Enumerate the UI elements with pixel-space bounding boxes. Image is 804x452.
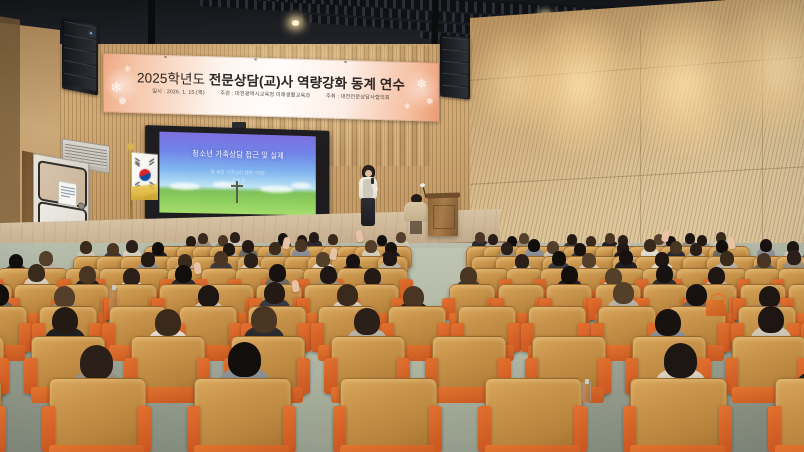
podium <box>428 196 458 236</box>
attendee <box>708 267 725 285</box>
banner-grommet <box>254 58 257 61</box>
attendee-head <box>685 233 695 244</box>
attendee <box>582 253 596 268</box>
seat-cushion <box>775 445 804 452</box>
handbag <box>706 300 726 316</box>
attendee-head <box>346 254 360 269</box>
seat-side-panel <box>0 406 6 452</box>
attendee-head <box>655 309 681 336</box>
seat-back <box>630 378 727 452</box>
attendee-head <box>328 234 338 245</box>
attendee-head <box>586 236 596 247</box>
attendee <box>251 306 277 333</box>
attendee-head <box>686 284 707 306</box>
attendee <box>28 264 45 282</box>
attendee <box>54 286 75 308</box>
attendee-head <box>515 254 529 269</box>
attendee <box>656 265 673 283</box>
seat-cushion <box>485 445 580 452</box>
attendee-head <box>28 264 45 282</box>
attendee <box>685 233 695 244</box>
attendee-head <box>656 265 673 283</box>
water-bottle <box>582 382 591 403</box>
seat[interactable] <box>630 378 725 452</box>
banner-grommet <box>164 55 167 58</box>
attendee-head <box>80 345 113 380</box>
attendee <box>354 308 380 335</box>
attendee <box>690 243 702 256</box>
attendee-head <box>54 286 75 308</box>
taeguk-symbol <box>139 169 151 181</box>
attendee-head <box>107 243 119 256</box>
attendee <box>198 285 219 307</box>
seat-back <box>194 378 291 452</box>
attendee-head <box>561 266 578 284</box>
attendee <box>79 266 96 284</box>
attendee <box>228 342 261 377</box>
attendee <box>475 232 485 243</box>
attendee <box>269 264 286 282</box>
flag-finial <box>127 143 134 150</box>
attendee-head <box>403 286 424 308</box>
attendee <box>501 242 513 255</box>
attendee <box>528 239 540 252</box>
attendee <box>655 309 681 336</box>
attendee <box>613 282 634 304</box>
attendee-head <box>264 282 285 304</box>
attendee <box>561 266 578 284</box>
attendee <box>552 251 566 266</box>
attendee <box>403 286 424 308</box>
seat-cushion <box>49 445 144 452</box>
attendee <box>107 243 119 256</box>
attendee-head <box>720 251 734 266</box>
attendee-head <box>760 239 772 252</box>
attendee <box>269 242 281 255</box>
door-notice-sign <box>58 180 77 206</box>
auditorium-screenshot: ❄ ❄ ❅ ❄ ❅ ❄ 2025학년도 전문상담(교)사 역량강화 동계 연수 … <box>0 0 804 452</box>
attendee <box>346 254 360 269</box>
banner-subtitle-host: 주관 : 대전광역시교육청 미래생활교육과 <box>220 91 310 100</box>
attendee-head <box>141 252 155 267</box>
attendee-head <box>759 286 780 308</box>
attendee-head <box>644 239 656 252</box>
attendee-head <box>251 306 277 333</box>
attendee-head <box>708 267 725 285</box>
attendee <box>328 234 338 245</box>
seat[interactable] <box>194 378 289 452</box>
attendee-head <box>619 250 633 265</box>
attendee-head <box>501 242 513 255</box>
attendee <box>686 284 707 306</box>
seat-cushion <box>194 445 289 452</box>
attendee <box>244 253 258 268</box>
attendee-head <box>242 240 254 253</box>
slide-title: 청소년 가족상담 접근 및 실제 <box>159 148 315 162</box>
seat-back <box>340 378 437 452</box>
attendee-head <box>228 342 261 377</box>
attendee-head <box>787 250 801 265</box>
line-array-speaker-right <box>440 34 470 99</box>
attendee-head <box>613 282 634 304</box>
attendee <box>644 239 656 252</box>
attendee-head <box>9 254 23 269</box>
attendee-head <box>52 307 78 334</box>
event-banner: ❄ ❄ ❅ ❄ ❅ ❄ 2025학년도 전문상담(교)사 역량강화 동계 연수 … <box>103 53 439 121</box>
attendee-head <box>488 234 498 245</box>
assistant-bowing <box>404 194 428 234</box>
attendee-head <box>316 252 330 267</box>
projection-screen: 청소년 가족상담 접근 및 실제 열 세움 가족심리 센터 "더함" 정 미 정 <box>145 125 329 223</box>
attendee <box>155 309 181 336</box>
cloud-icon <box>260 185 293 193</box>
attendee-head <box>198 233 208 244</box>
seat[interactable] <box>775 378 804 452</box>
attendee <box>515 254 529 269</box>
microphone-icon <box>371 178 374 184</box>
attendee <box>383 251 397 266</box>
seat-back <box>49 378 146 452</box>
seat[interactable] <box>340 378 435 452</box>
door-handle[interactable] <box>78 202 85 210</box>
spotlight-icon <box>290 10 301 23</box>
attendee <box>365 240 377 253</box>
attendee <box>316 252 330 267</box>
attendee-head <box>126 240 138 253</box>
attendee <box>605 233 615 244</box>
attendee <box>175 265 192 283</box>
attendee-head <box>690 243 702 256</box>
attendee-head <box>582 253 596 268</box>
attendee-head <box>670 241 682 254</box>
seat[interactable] <box>49 378 144 452</box>
attendee <box>759 286 780 308</box>
seat-cushion <box>340 445 435 452</box>
attendee-head <box>365 240 377 253</box>
attendee <box>460 267 477 285</box>
snowflake-icon: ❅ <box>118 97 127 108</box>
attendee <box>126 240 138 253</box>
attendee-head <box>214 251 228 266</box>
attendee-head <box>269 264 286 282</box>
attendee <box>0 284 9 306</box>
banner-title-year: 2025학년도 <box>137 70 205 87</box>
attendee <box>141 252 155 267</box>
attendee <box>295 239 307 252</box>
attendee <box>787 250 801 265</box>
attendee-head <box>757 253 771 268</box>
attendee-head <box>244 253 258 268</box>
attendee-head <box>605 233 615 244</box>
attendee <box>80 241 92 254</box>
attendee-head <box>309 232 319 243</box>
attendee-head <box>337 284 358 306</box>
seat-back <box>485 378 582 452</box>
attendee <box>309 232 319 243</box>
attendee <box>337 284 358 306</box>
attendee-head <box>155 309 181 336</box>
attendee <box>230 232 240 243</box>
attendee-head <box>396 232 406 243</box>
presentation-slide: 청소년 가족상담 접근 및 실제 열 세움 가족심리 센터 "더함" 정 미 정 <box>159 132 315 216</box>
banner-grommet <box>344 60 347 63</box>
attendee <box>488 234 498 245</box>
attendee-head <box>460 267 477 285</box>
attendee-head <box>383 251 397 266</box>
attendee <box>264 282 285 304</box>
attendee <box>664 343 697 378</box>
attendee-head <box>175 265 192 283</box>
attendee-head <box>80 241 92 254</box>
attendee <box>80 345 113 380</box>
attendee <box>760 239 772 252</box>
attendee <box>619 250 633 265</box>
cloud-icon <box>170 182 200 190</box>
attendee <box>396 232 406 243</box>
presenter-speaker <box>357 166 379 226</box>
attendee <box>52 307 78 334</box>
attendee-head <box>354 308 380 335</box>
seat[interactable] <box>485 378 580 452</box>
attendee <box>757 253 771 268</box>
snowflake-icon: ❄ <box>404 103 411 111</box>
attendee <box>320 266 337 284</box>
attendee-head <box>198 285 219 307</box>
line-array-speaker-left <box>62 19 98 96</box>
attendee-head <box>528 239 540 252</box>
attendee <box>242 240 254 253</box>
attendee-head <box>295 239 307 252</box>
banner-subtitle-date: 일시 : 2026. 1. 15.(목) <box>152 89 205 96</box>
attendee <box>758 306 784 333</box>
attendee-head <box>475 232 485 243</box>
attendee <box>586 236 596 247</box>
attendee-head <box>552 251 566 266</box>
attendee <box>198 233 208 244</box>
attendee-head <box>230 232 240 243</box>
banner-subtitle-org: 주최 : 대전전문상담사협의회 <box>326 94 390 102</box>
attendee <box>670 241 682 254</box>
attendee <box>214 251 228 266</box>
attendee-head <box>320 266 337 284</box>
attendee-head <box>664 343 697 378</box>
ceiling-beam <box>431 0 439 48</box>
attendee-head <box>269 242 281 255</box>
attendee <box>9 254 23 269</box>
attendee-head <box>79 266 96 284</box>
utility-pole-icon <box>236 181 237 203</box>
attendee <box>720 251 734 266</box>
attendee-head <box>758 306 784 333</box>
seat-cushion <box>630 445 725 452</box>
